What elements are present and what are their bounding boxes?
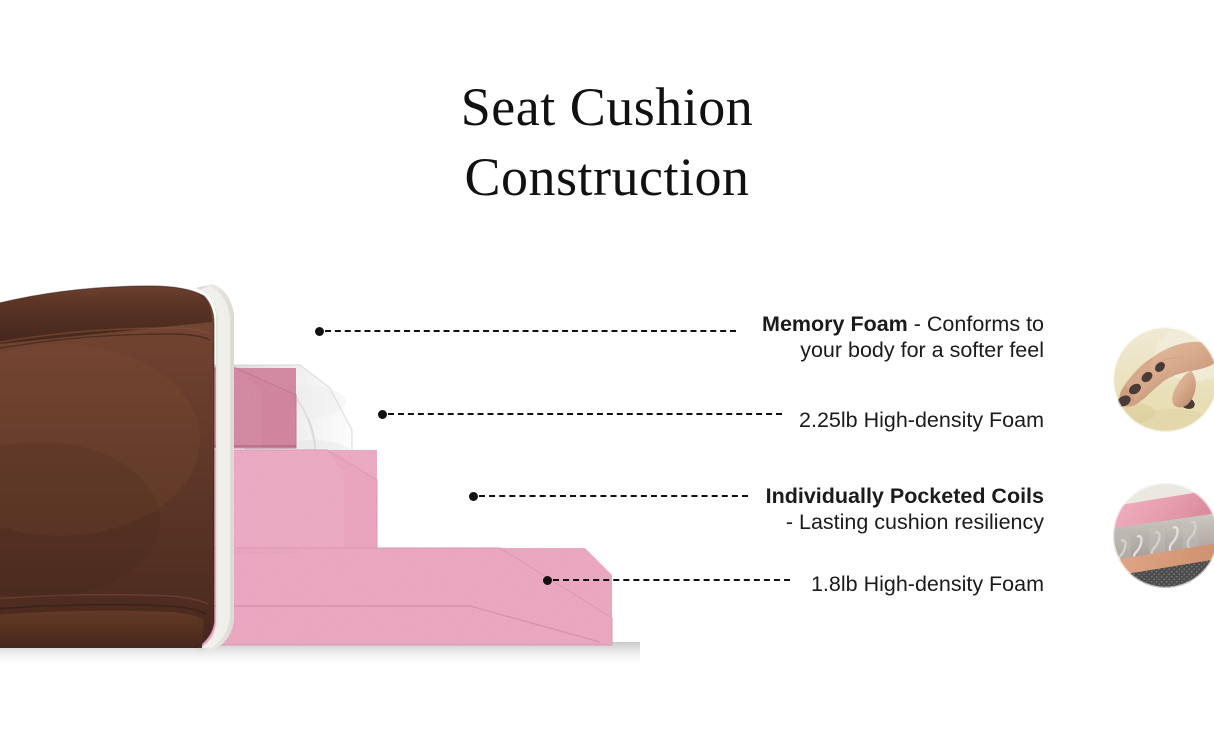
- callout-high-density-foam-225-text: 2.25lb High-density Foam: [714, 407, 1044, 433]
- callout-pocketed-coils-bold: Individually Pocketed Coils: [766, 484, 1044, 508]
- callout-high-density-foam-18: 1.8lb High-density Foam: [714, 571, 1044, 597]
- leader-dash: [479, 495, 748, 497]
- callout-pocketed-coils-line-1: Individually Pocketed Coils: [714, 483, 1044, 509]
- leader-line-memory-foam: [315, 330, 736, 332]
- callout-memory-foam: Memory Foam - Conforms to your body for …: [714, 311, 1044, 363]
- cushion-cutaway-illustration: [0, 270, 680, 690]
- leader-dot: [315, 327, 324, 336]
- infographic-canvas: Seat Cushion Construction: [0, 0, 1214, 735]
- callout-high-density-foam-18-text: 1.8lb High-density Foam: [714, 571, 1044, 597]
- callout-memory-foam-line-1: Memory Foam - Conforms to: [714, 311, 1044, 337]
- title-line-2: Construction: [0, 142, 1214, 212]
- leader-dash: [325, 330, 736, 332]
- leader-dot: [543, 576, 552, 585]
- memory-foam-hand-photo: [1113, 327, 1214, 432]
- callout-memory-foam-bold: Memory Foam: [762, 312, 908, 336]
- callout-memory-foam-rest: - Conforms to: [908, 312, 1044, 336]
- page-title: Seat Cushion Construction: [0, 72, 1214, 212]
- leather-upholstery: [0, 286, 214, 648]
- title-line-1: Seat Cushion: [0, 72, 1214, 142]
- callout-pocketed-coils-line-2: - Lasting cushion resiliency: [714, 509, 1044, 535]
- leader-line-pocketed-coils: [469, 495, 748, 497]
- leader-dot: [469, 492, 478, 501]
- callout-high-density-foam-225: 2.25lb High-density Foam: [714, 407, 1044, 433]
- leader-dot: [378, 410, 387, 419]
- callout-memory-foam-line-2: your body for a softer feel: [714, 337, 1044, 363]
- pocketed-coils-photo: [1113, 483, 1214, 588]
- callout-pocketed-coils: Individually Pocketed Coils - Lasting cu…: [714, 483, 1044, 535]
